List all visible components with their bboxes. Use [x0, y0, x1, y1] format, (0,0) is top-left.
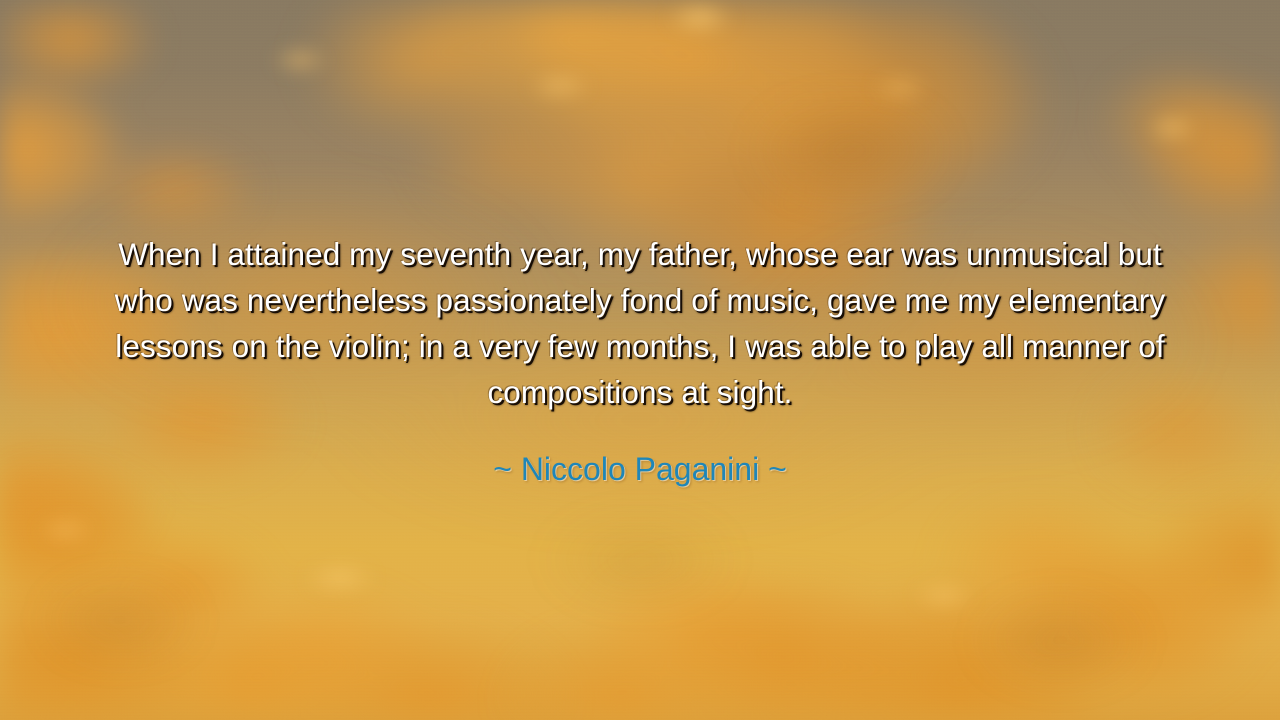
text-overlay: When I attained my seventh year, my fath…: [0, 0, 1280, 720]
quote-attribution: ~ Niccolo Paganini ~: [493, 449, 787, 489]
quote-text: When I attained my seventh year, my fath…: [110, 231, 1170, 415]
quote-card: When I attained my seventh year, my fath…: [0, 0, 1280, 720]
